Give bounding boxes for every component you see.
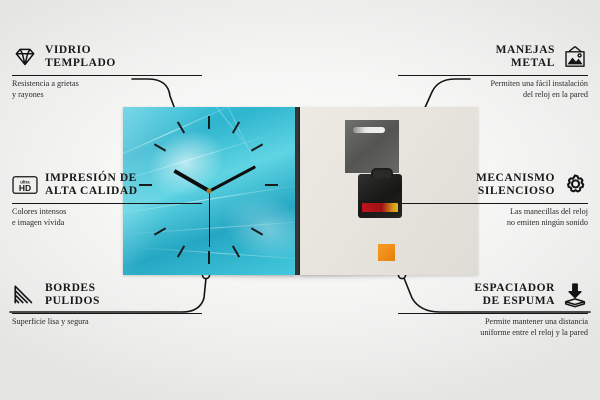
feature-title-line: ALTA CALIDAD: [45, 185, 138, 198]
feature-subtitle-line: del reloj en la pared: [398, 90, 588, 100]
feature-title-line: PULIDOS: [45, 295, 100, 308]
feature-impresion-alta-calidad: ultra HD IMPRESIÓN DE ALTA CALIDAD Color…: [12, 168, 202, 228]
polished-edges-icon: [12, 282, 38, 308]
feature-rule: [398, 75, 588, 76]
feature-title-line: DE ESPUMA: [483, 295, 555, 308]
feature-rule: [398, 203, 588, 204]
clock-tick: [265, 184, 278, 186]
feature-rule: [12, 313, 202, 314]
feature-bordes-pulidos: BORDES PULIDOS Superficie lisa y segura: [12, 278, 202, 328]
feature-title-line: MECANISMO: [476, 172, 555, 185]
wall-hanger-frame-icon: [562, 44, 588, 70]
feature-subtitle-line: Permite mantener una distancia: [398, 317, 588, 327]
feature-title-line: BORDES: [45, 282, 100, 295]
feature-title-line: TEMPLADO: [45, 57, 116, 70]
feature-title-line: SILENCIOSO: [478, 185, 555, 198]
feature-title-line: VIDRIO: [45, 44, 116, 57]
ultra-hd-icon-large-label: HD: [19, 183, 31, 193]
hanger-slot: [353, 127, 385, 133]
clock-tick: [208, 251, 210, 264]
feature-subtitle-line: Permiten una fácil instalación: [398, 79, 588, 89]
feature-title-line: ESPACIADOR: [474, 282, 555, 295]
diamond-icon: [12, 44, 38, 70]
mechanism-hanging-tab: [371, 168, 393, 178]
clock-hand-hub: [207, 189, 212, 194]
feature-title-line: METAL: [511, 57, 555, 70]
down-arrow-stack-icon: [562, 282, 588, 308]
feature-rule: [12, 75, 202, 76]
feature-title-line: IMPRESIÓN DE: [45, 172, 138, 185]
feature-subtitle-line: Las manecillas del reloj: [398, 207, 588, 217]
metal-hanger-plate: [345, 120, 399, 173]
feature-subtitle-line: e imagen vívida: [12, 218, 202, 228]
feature-title-line: MANEJAS: [496, 44, 555, 57]
feature-subtitle-line: Resistencia a grietas: [12, 79, 202, 89]
feature-espaciador-de-espuma: ESPACIADOR DE ESPUMA Permite mantener un…: [398, 278, 588, 338]
feature-subtitle-line: uniforme entre el reloj y la pared: [398, 328, 588, 338]
feature-subtitle-line: Colores intensos: [12, 207, 202, 217]
infographic-canvas: VIDRIO TEMPLADO Resistencia a grietas y …: [0, 0, 600, 400]
clock-tick: [251, 143, 263, 151]
feature-rule: [12, 203, 202, 204]
ultra-hd-icon: ultra HD: [12, 172, 38, 198]
feature-subtitle-line: no emiten ningún sonido: [398, 218, 588, 228]
feature-subtitle-line: y rayones: [12, 90, 202, 100]
feature-vidrio-templado: VIDRIO TEMPLADO Resistencia a grietas y …: [12, 40, 202, 100]
battery: [362, 203, 398, 212]
foam-spacer: [378, 244, 395, 261]
feature-manejas-metal: MANEJAS METAL Permiten una fácil instala…: [398, 40, 588, 100]
clock-tick: [208, 116, 210, 129]
feature-subtitle-line: Superficie lisa y segura: [12, 317, 202, 327]
feature-rule: [398, 313, 588, 314]
gear-icon: [562, 172, 588, 198]
feature-mecanismo-silencioso: MECANISMO SILENCIOSO Las manecillas del …: [398, 168, 588, 228]
clock-second-hand: [209, 191, 210, 247]
clock-mechanism-box: [358, 174, 402, 218]
